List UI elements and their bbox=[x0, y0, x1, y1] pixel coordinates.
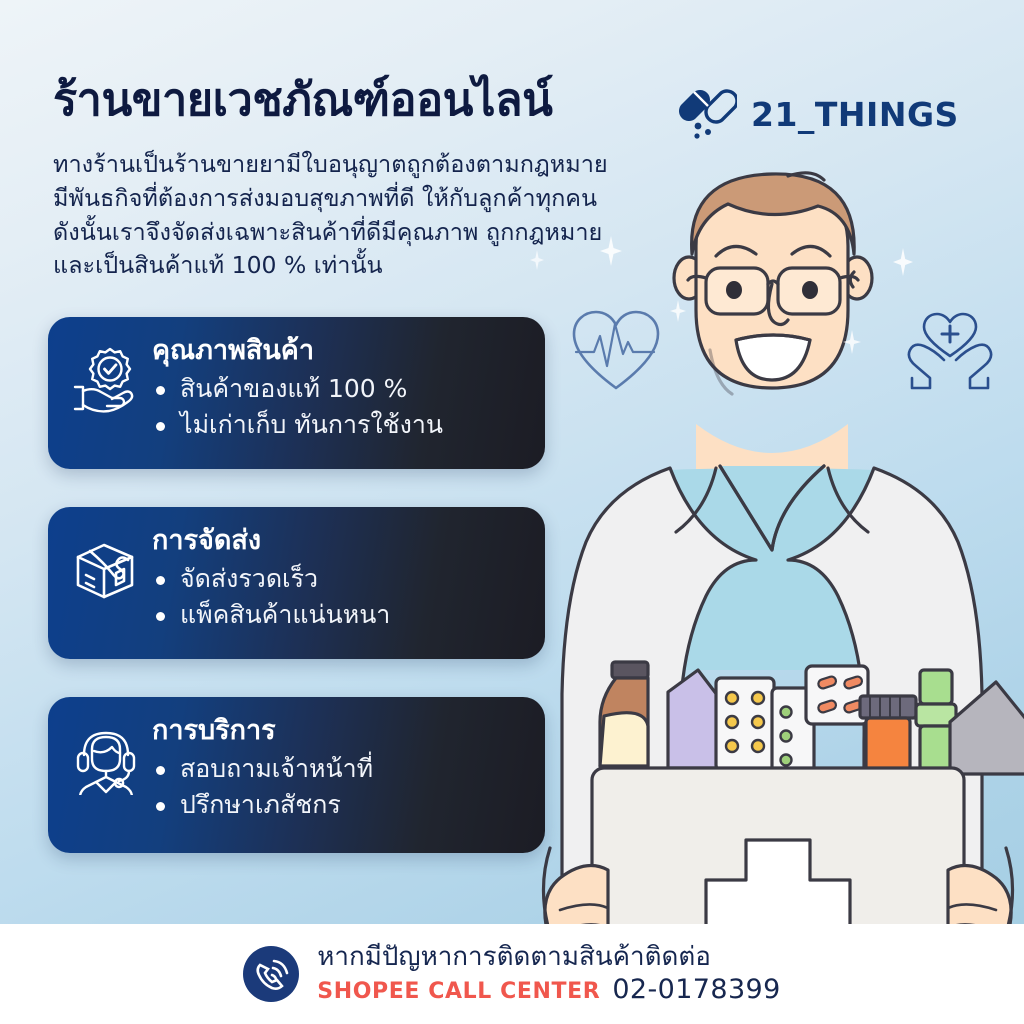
pill-capsule-icon bbox=[675, 86, 737, 142]
heartbeat-heart-icon bbox=[566, 304, 666, 396]
sparkle-icon bbox=[843, 330, 861, 354]
footer-contact-line: SHOPEE CALL CENTER 02-0178399 bbox=[317, 974, 780, 1005]
hands-holding-heart-cross-icon bbox=[904, 306, 996, 392]
brand-name: 21_THINGS bbox=[751, 95, 959, 134]
list-item: แพ็คสินค้าแน่นหนา bbox=[152, 597, 525, 633]
intro-line-1: ทางร้านเป็นร้านขายยามีใบอนุญาตถูกต้องตาม… bbox=[53, 148, 693, 182]
footer-note: หากมีปัญหาการติดตามสินค้าติดต่อ bbox=[317, 943, 780, 973]
intro-line-2: มีพันธกิจที่ต้องการส่งมอบสุขภาพที่ดี ให้… bbox=[53, 182, 693, 216]
list-item: ปรึกษาเภสัชกร bbox=[152, 787, 525, 823]
call-center-phone-number[interactable]: 02-0178399 bbox=[612, 974, 780, 1005]
shipping-box-icon bbox=[70, 533, 146, 605]
card-content: การจัดส่ง จัดส่งรวดเร็ว แพ็คสินค้าแน่นหน… bbox=[146, 525, 525, 632]
phone-ring-icon bbox=[243, 946, 299, 1002]
feature-card-service[interactable]: การบริการ สอบถามเจ้าหน้าที่ ปรึกษาเภสัชก… bbox=[48, 697, 545, 853]
hand-holding-quality-badge-icon bbox=[70, 343, 146, 415]
list-item: สินค้าของแท้ 100 % bbox=[152, 371, 525, 407]
footer-text-block: หากมีปัญหาการติดตามสินค้าติดต่อ SHOPEE C… bbox=[317, 943, 780, 1006]
intro-line-3: ดังนั้นเราจึงจัดส่งเฉพาะสินค้าที่ดีมีคุณ… bbox=[53, 216, 693, 250]
card-content: การบริการ สอบถามเจ้าหน้าที่ ปรึกษาเภสัชก… bbox=[146, 715, 525, 822]
shopee-call-center-label: SHOPEE CALL CENTER bbox=[317, 979, 600, 1004]
headset-support-agent-icon bbox=[70, 723, 146, 795]
card-title: การบริการ bbox=[152, 715, 525, 747]
card-content: คุณภาพสินค้า สินค้าของแท้ 100 % ไม่เก่าเ… bbox=[146, 335, 525, 442]
card-title: คุณภาพสินค้า bbox=[152, 335, 525, 367]
page-title: ร้านขายเวชภัณฑ์ออนไลน์ bbox=[53, 73, 552, 126]
feature-card-shipping[interactable]: การจัดส่ง จัดส่งรวดเร็ว แพ็คสินค้าแน่นหน… bbox=[48, 507, 545, 659]
brand-logo: 21_THINGS bbox=[675, 86, 959, 142]
card-bullet-list: สินค้าของแท้ 100 % ไม่เก่าเก็บ ทันการใช้… bbox=[152, 371, 525, 442]
intro-line-4: และเป็นสินค้าแท้ 100 % เท่านั้น bbox=[53, 249, 693, 283]
intro-paragraph: ทางร้านเป็นร้านขายยามีใบอนุญาตถูกต้องตาม… bbox=[53, 148, 693, 283]
sparkle-icon bbox=[670, 300, 686, 322]
list-item: สอบถามเจ้าหน้าที่ bbox=[152, 751, 525, 787]
card-bullet-list: จัดส่งรวดเร็ว แพ็คสินค้าแน่นหนา bbox=[152, 561, 525, 632]
poster-root: ร้านขายเวชภัณฑ์ออนไลน์ 21_THINGS ทางร้า bbox=[0, 0, 1024, 1024]
card-bullet-list: สอบถามเจ้าหน้าที่ ปรึกษาเภสัชกร bbox=[152, 751, 525, 822]
list-item: จัดส่งรวดเร็ว bbox=[152, 561, 525, 597]
sparkle-icon bbox=[893, 248, 913, 276]
feature-card-quality[interactable]: คุณภาพสินค้า สินค้าของแท้ 100 % ไม่เก่าเ… bbox=[48, 317, 545, 469]
list-item: ไม่เก่าเก็บ ทันการใช้งาน bbox=[152, 407, 525, 443]
footer-contact-bar: หากมีปัญหาการติดตามสินค้าติดต่อ SHOPEE C… bbox=[0, 924, 1024, 1024]
card-title: การจัดส่ง bbox=[152, 525, 525, 557]
